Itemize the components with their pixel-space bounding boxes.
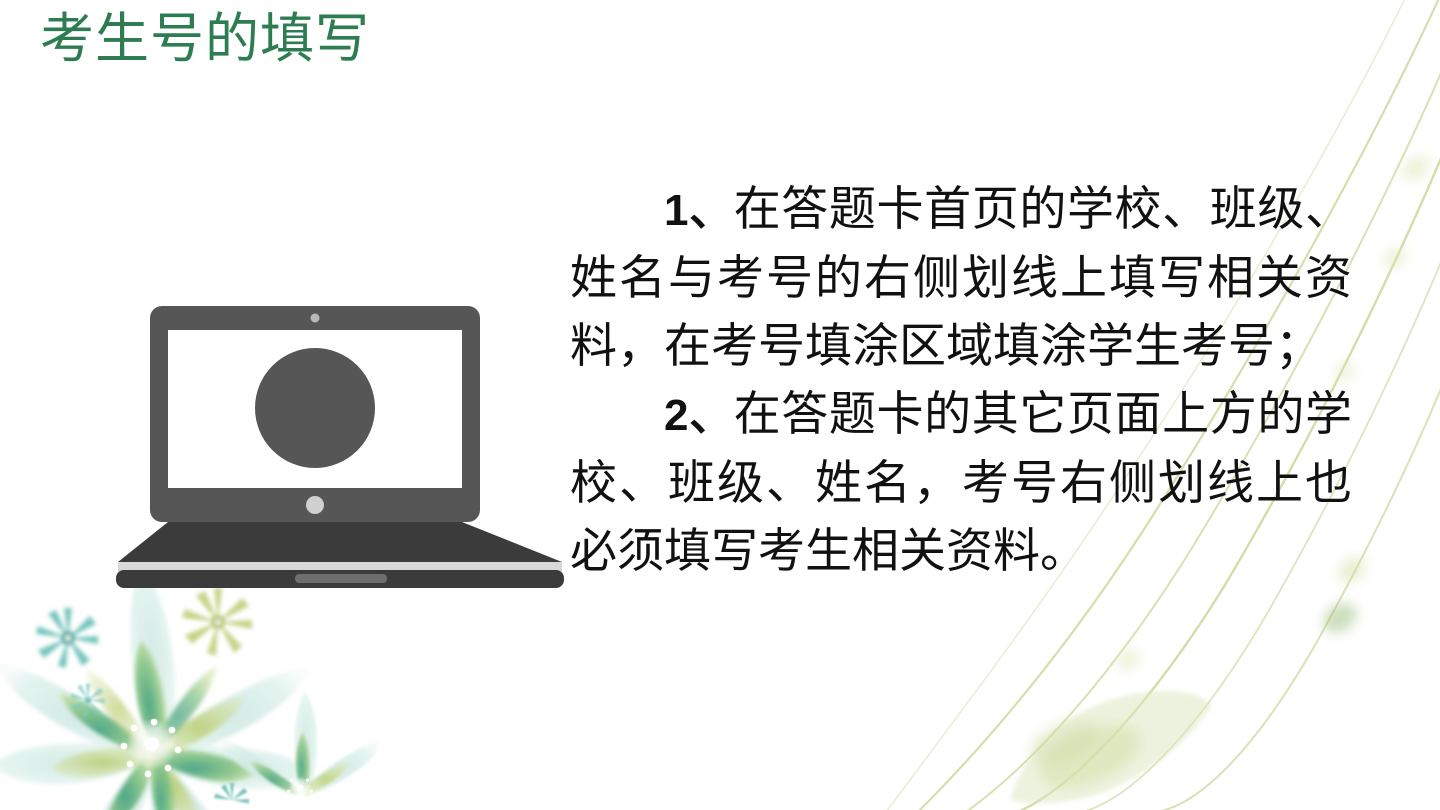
laptop-deck (118, 522, 562, 562)
screen-circle-graphic (255, 348, 375, 468)
hinge-dot-icon (306, 496, 324, 514)
paragraph-1: 1、在答题卡首页的学校、班级、姓名与考号的右侧划线上填写相关资料，在考号填涂区域… (570, 176, 1352, 381)
laptop-illustration (110, 300, 570, 590)
body-text-block: 1、在答题卡首页的学校、班级、姓名与考号的右侧划线上填写相关资料，在考号填涂区域… (570, 176, 1352, 586)
watercolor-flower (219, 691, 381, 799)
paragraph-2: 2、在答题卡的其它页面上方的学校、班级、姓名，考号右侧划线上也必须填写考生相关资… (570, 381, 1352, 586)
paragraph-2-marker: 2、 (664, 391, 734, 440)
pale-leaf-blob (1010, 691, 1212, 804)
page-title: 考生号的填写 (40, 8, 370, 70)
star-flower-teal (214, 783, 249, 804)
paragraph-1-marker: 1、 (664, 186, 734, 235)
star-flower-olive (182, 588, 252, 656)
watercolor-flower (0, 561, 314, 810)
trackpad-notch (295, 574, 387, 583)
slide-canvas: 考生号的填写 1、在答题卡首页的学校、班级、姓名与考号的右侧划线上填写相关资料，… (0, 0, 1440, 810)
star-flower-teal (70, 684, 104, 717)
webcam-dot-icon (311, 314, 320, 323)
star-flower-teal (36, 608, 98, 668)
